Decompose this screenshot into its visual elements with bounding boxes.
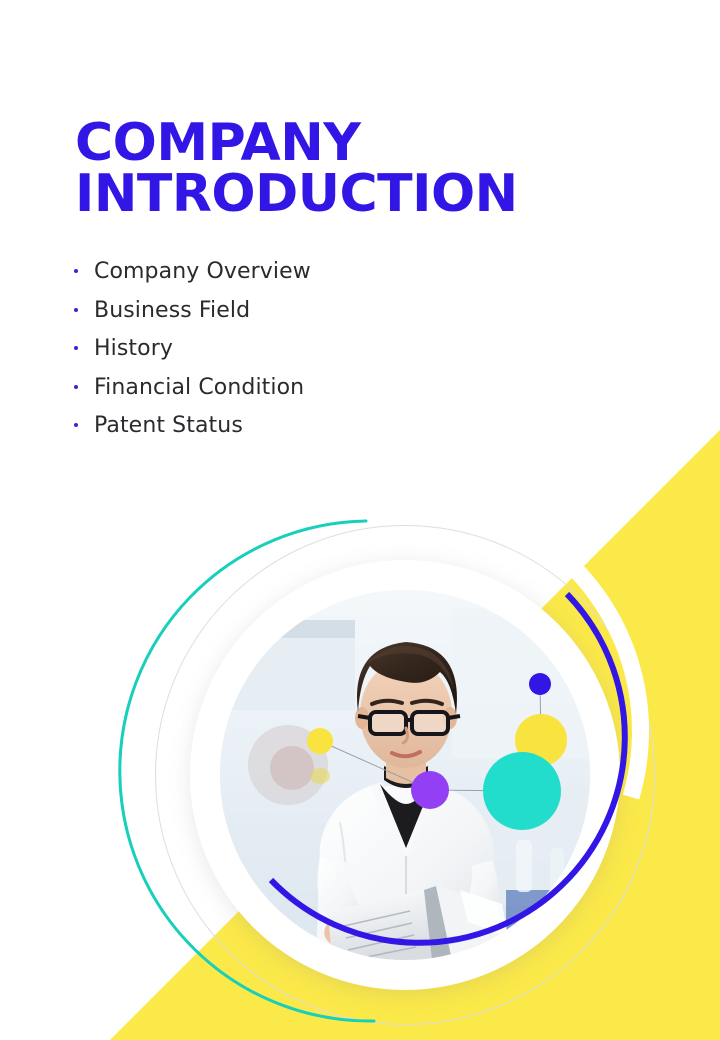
list-item-label: Financial Condition: [94, 375, 304, 400]
list-item[interactable]: Business Field: [74, 298, 311, 337]
bullet-dot-icon: [74, 346, 78, 350]
blue-node: [529, 673, 551, 695]
teal-node: [483, 752, 561, 830]
bullet-dot-icon: [74, 308, 78, 312]
page-title: COMPANY INTRODUCTION: [75, 118, 595, 220]
yellow-node-small: [307, 728, 333, 754]
list-item[interactable]: Company Overview: [74, 259, 311, 298]
bullet-dot-icon: [74, 269, 78, 273]
title-line-1: COMPANY: [75, 118, 595, 169]
purple-node: [411, 771, 449, 809]
agenda-list: Company Overview Business Field History …: [74, 259, 311, 452]
list-item[interactable]: History: [74, 336, 311, 375]
list-item-label: Business Field: [94, 298, 250, 323]
slide-canvas: COMPANY INTRODUCTION Company Overview Bu…: [0, 0, 720, 1040]
list-item[interactable]: Patent Status: [74, 413, 311, 452]
bullet-dot-icon: [74, 423, 78, 427]
bullet-dot-icon: [74, 385, 78, 389]
title-line-2: INTRODUCTION: [75, 169, 595, 220]
list-item-label: Company Overview: [94, 259, 311, 284]
list-item-label: Patent Status: [94, 413, 243, 438]
list-item-label: History: [94, 336, 173, 361]
list-item[interactable]: Financial Condition: [74, 375, 311, 414]
